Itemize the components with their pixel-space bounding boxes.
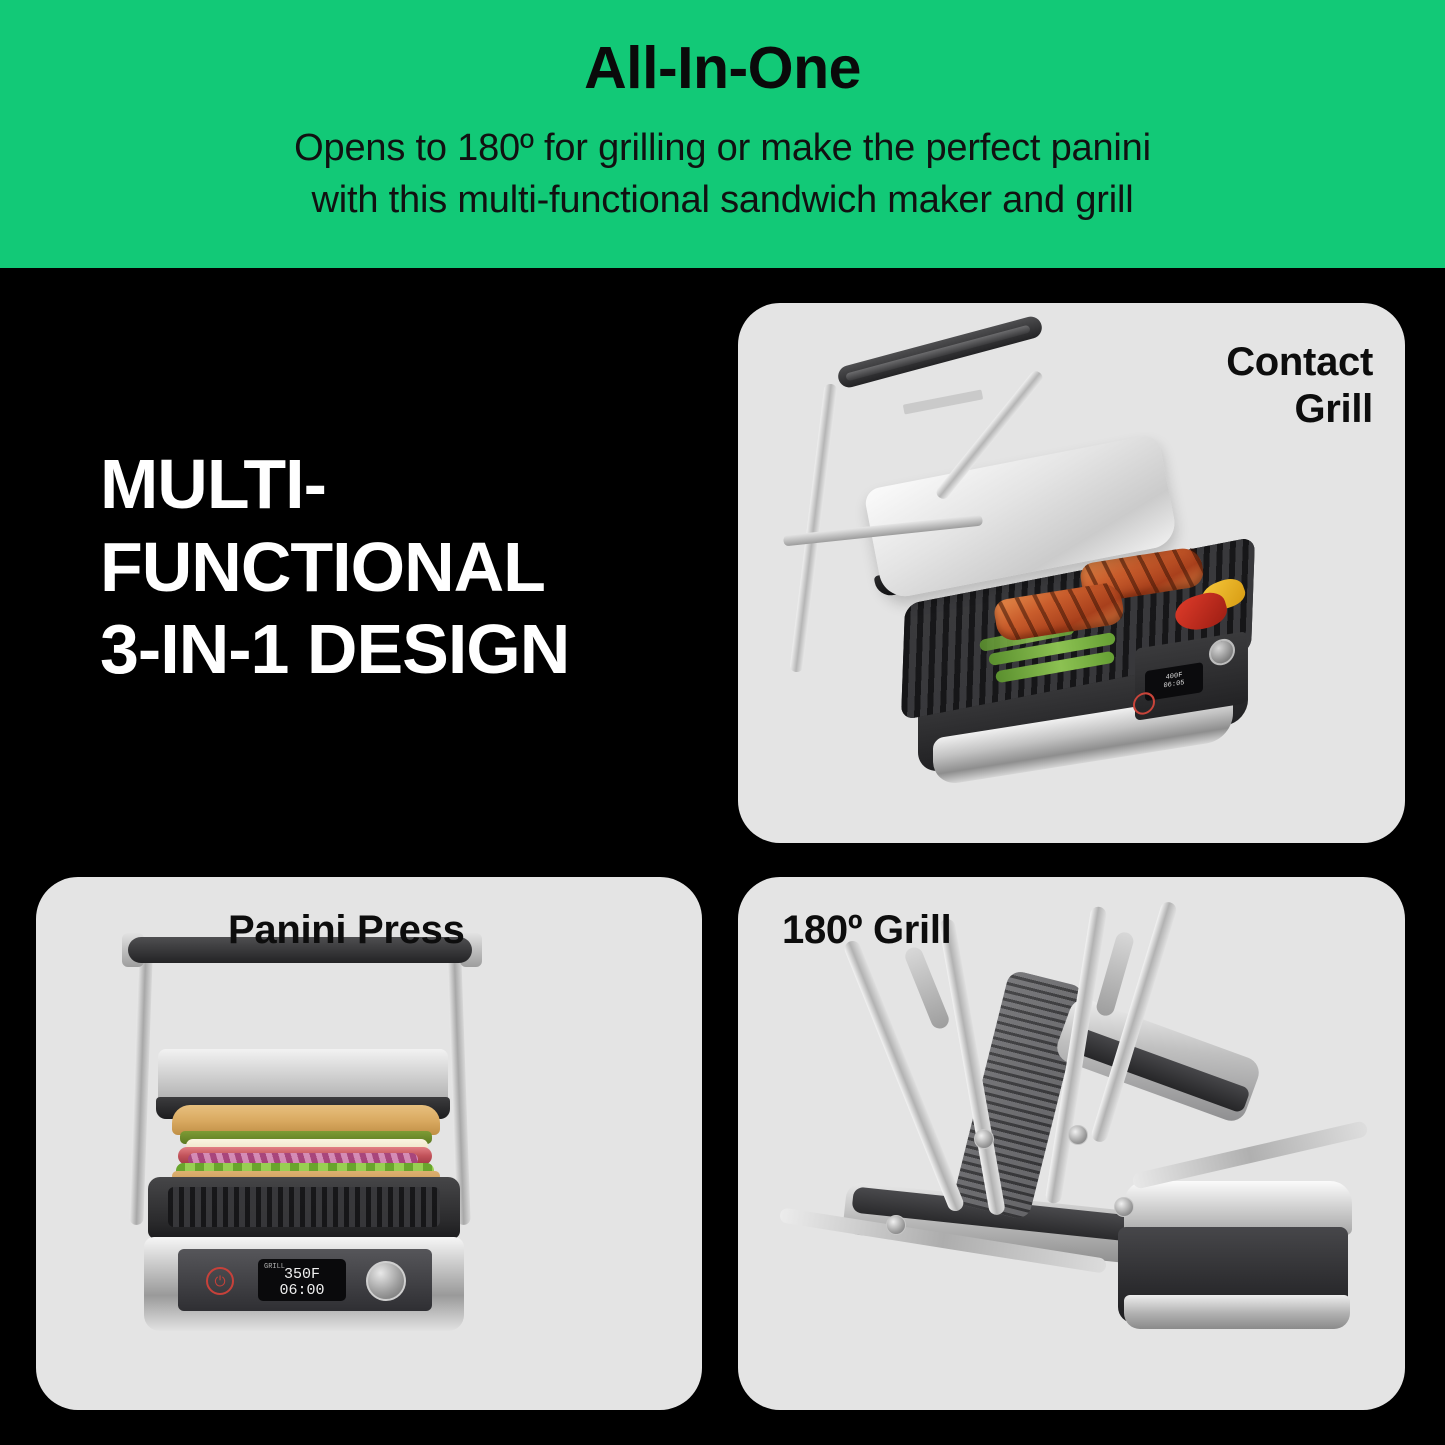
header-banner: All-In-One Opens to 180º for grilling or…	[0, 0, 1445, 268]
contact-grill-hinge-arm	[789, 383, 837, 672]
display-timer: 06:00	[279, 1283, 324, 1299]
headline-line-3: 3-IN-1 DESIGN	[100, 608, 700, 691]
card-label-panini-press: Panini Press	[228, 907, 465, 954]
display-mode-label: GRILL	[264, 1263, 285, 1271]
card-label-contact-grill: Contact Grill	[1226, 339, 1373, 433]
feature-headline: MULTI- FUNCTIONAL 3-IN-1 DESIGN	[100, 443, 700, 691]
grill-ribs	[168, 1187, 440, 1227]
power-button-icon[interactable]: ⏻	[206, 1267, 234, 1295]
content-stage: MULTI- FUNCTIONAL 3-IN-1 DESIGN Contact …	[0, 268, 1445, 1445]
display-temperature: 350F	[284, 1267, 320, 1283]
header-subtitle-line-1: Opens to 180º for grilling or make the p…	[294, 122, 1151, 174]
sandwich	[172, 1105, 440, 1187]
panini-press-illustration: ⏻ GRILL 350F 06:00	[36, 877, 702, 1410]
pivot-bolt	[1114, 1197, 1134, 1217]
contact-grill-label-line-1: Contact	[1226, 339, 1373, 386]
control-dial-knob[interactable]	[366, 1261, 406, 1301]
card-label-180-grill: 180º Grill	[782, 907, 951, 954]
card-panini-press: Panini Press	[36, 877, 702, 1410]
control-dial-knob[interactable]	[1209, 637, 1235, 667]
contact-grill-handle-highlight	[845, 325, 1031, 382]
pivot-bolt	[974, 1129, 994, 1149]
contact-grill-display-time: 06:05	[1163, 680, 1184, 691]
pivot-bolt	[886, 1215, 906, 1235]
hinge-arm	[842, 939, 965, 1214]
contact-grill-display: 400F 06:05	[1145, 662, 1203, 701]
card-180-grill: 180º Grill	[738, 877, 1405, 1410]
header-subtitle-line-2: with this multi-functional sandwich make…	[294, 174, 1151, 226]
brand-logo-emboss	[903, 389, 983, 414]
card-contact-grill: Contact Grill	[738, 303, 1405, 843]
panini-press-control-panel: ⏻ GRILL 350F 06:00	[178, 1249, 432, 1311]
header-subtitle: Opens to 180º for grilling or make the p…	[294, 122, 1151, 227]
pivot-bolt	[1068, 1125, 1088, 1145]
headline-line-2: FUNCTIONAL	[100, 526, 700, 609]
power-button-icon[interactable]	[1133, 691, 1155, 716]
180-grill-illustration	[738, 877, 1405, 1410]
hinge-arm-lower-right	[1131, 1120, 1368, 1190]
headline-line-1: MULTI-	[100, 443, 700, 526]
panini-press-display: GRILL 350F 06:00	[258, 1259, 346, 1301]
grill-base-foot	[1124, 1295, 1350, 1329]
contact-grill-label-line-2: Grill	[1226, 386, 1373, 433]
page-title: All-In-One	[584, 38, 861, 100]
